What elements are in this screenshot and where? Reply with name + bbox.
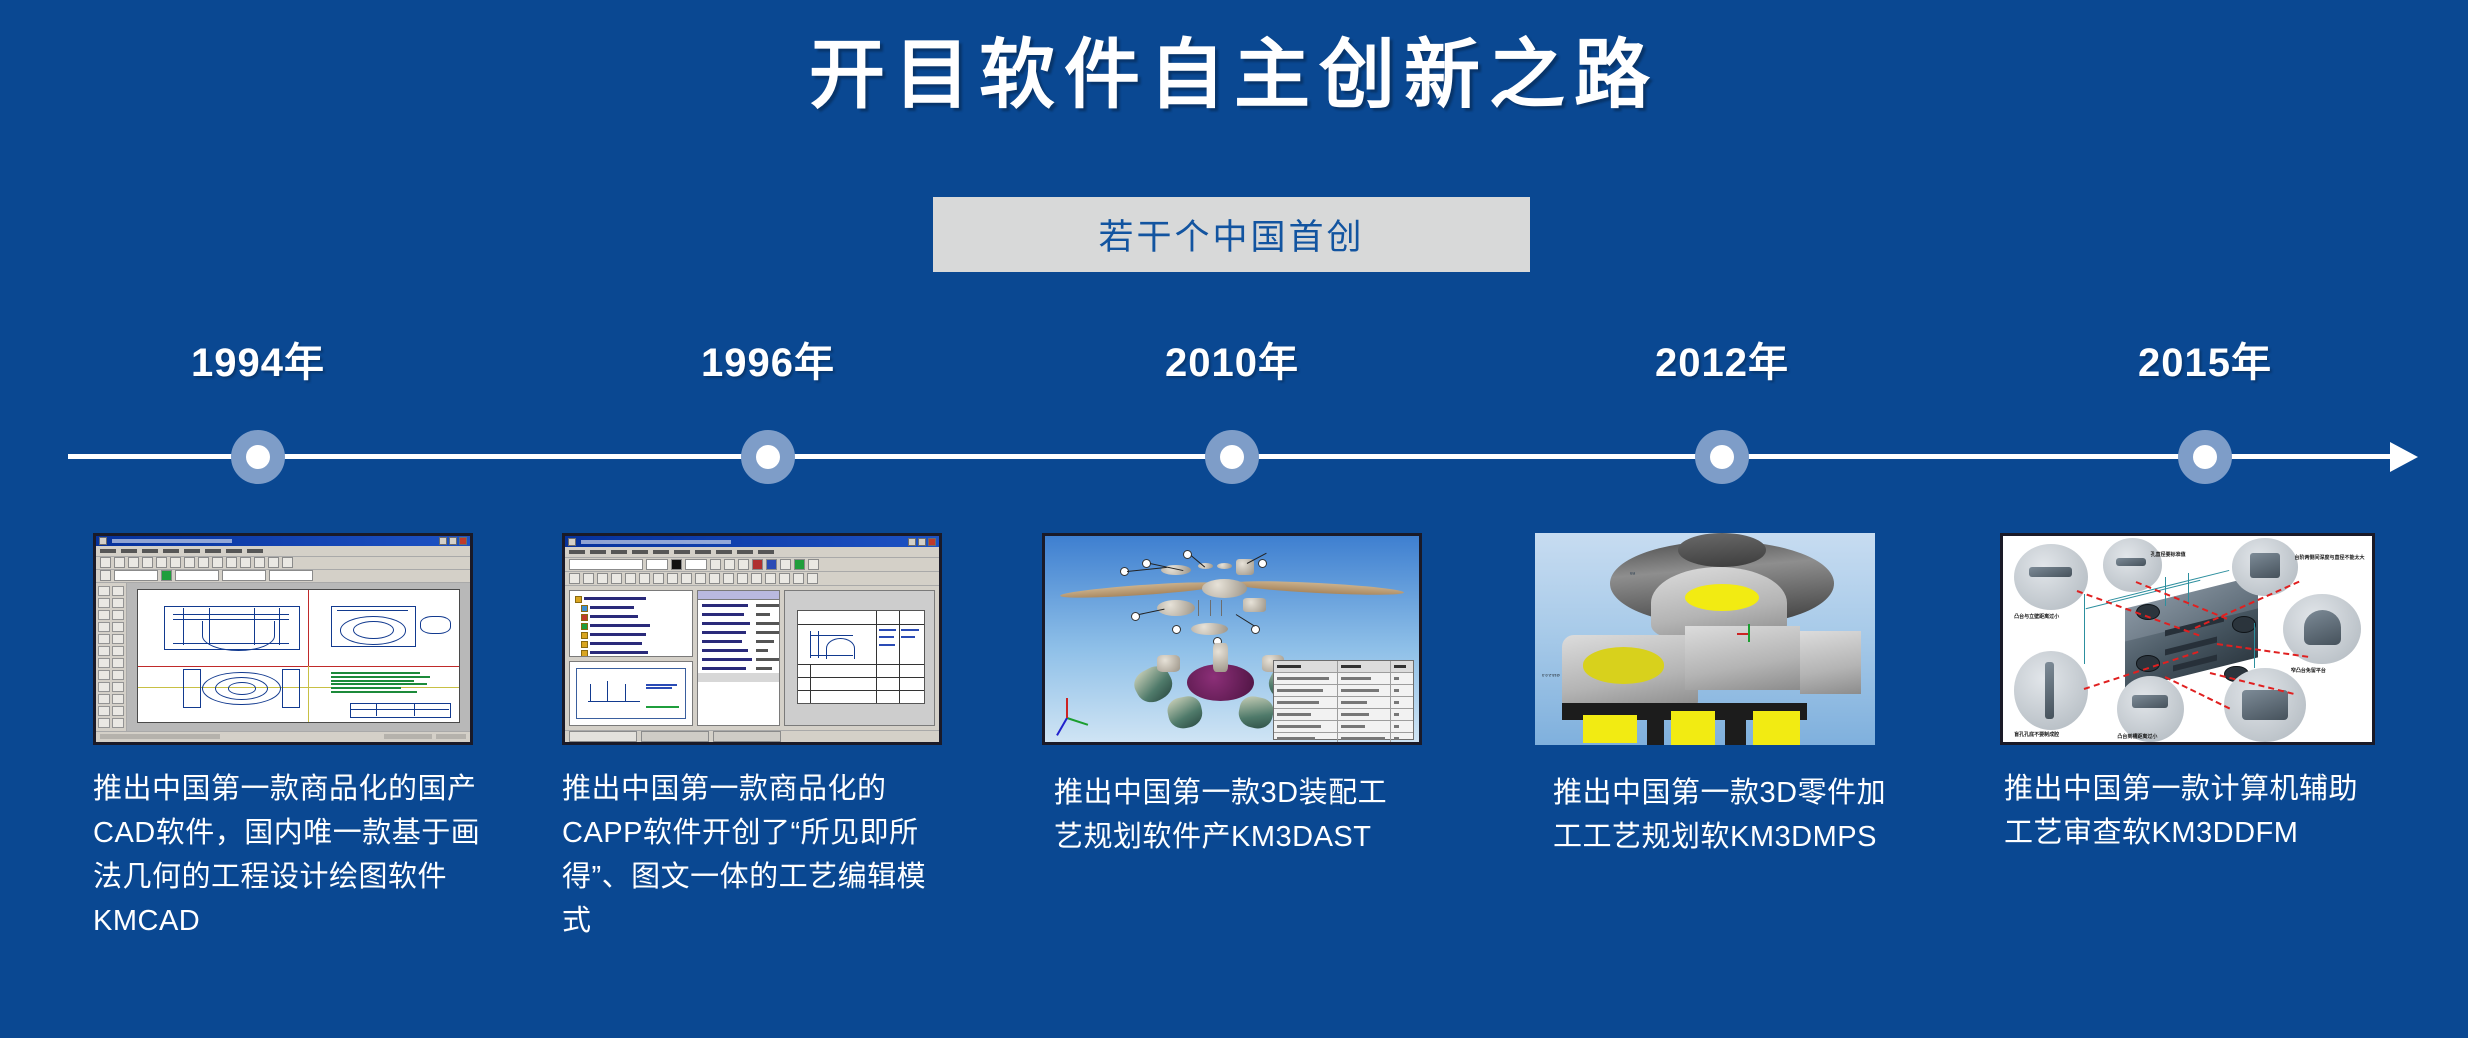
format-icon[interactable] <box>808 559 819 570</box>
align-icon[interactable] <box>710 559 721 570</box>
callout-bubble-2 <box>2103 538 2162 592</box>
undo-icon[interactable] <box>681 573 692 584</box>
axis-z <box>1748 634 1750 642</box>
sheet-row <box>798 624 924 625</box>
attribute-name <box>702 613 744 616</box>
kmcapp-screenshot <box>562 533 942 745</box>
mold-annotation-6: 凸台到槽距离过小 <box>2117 734 2157 740</box>
tool-button[interactable] <box>98 634 110 644</box>
mold-annotation-2: 孔直径要标准值 <box>2151 552 2186 558</box>
align-icon[interactable] <box>724 559 735 570</box>
card-drawing-arc <box>826 638 856 659</box>
tool-button[interactable] <box>112 706 124 716</box>
tree-node-icon <box>581 614 588 621</box>
drawing-stroke <box>173 619 289 620</box>
timeline-year-2012: 2012年 <box>1572 330 1872 388</box>
exploded-washer <box>1217 563 1232 569</box>
dimension-wireframe <box>2084 594 2085 664</box>
menu-item[interactable] <box>163 549 179 553</box>
menu-item[interactable] <box>247 549 263 553</box>
mold-annotation-3: 台阶两侧间深度与直径不能太大 <box>2295 555 2365 563</box>
toolbar-button[interactable] <box>114 557 125 568</box>
line-style-icon[interactable] <box>100 570 111 581</box>
zoom-in-icon[interactable] <box>709 573 720 584</box>
attribute-name <box>702 640 742 643</box>
attribute-name <box>702 658 752 661</box>
timeline-year-1994: 1994年 <box>108 330 408 388</box>
exploded-bushing <box>1243 598 1265 612</box>
part-right-block <box>1800 631 1861 695</box>
left-column <box>569 590 693 726</box>
milestone-card-1996[interactable]: 推出中国第一款商品化的CAPP软件开创了“所见即所得”、图文一体的工艺编辑模式 <box>562 533 942 943</box>
exploded-bolt <box>1210 600 1211 616</box>
milestone-caption-2012: 推出中国第一款3D零件加工工艺规划软KM3DMPS <box>1535 771 1893 859</box>
size-dropdown[interactable] <box>646 559 668 570</box>
callout-bubble-1 <box>2014 544 2088 610</box>
tool-button[interactable] <box>112 586 124 596</box>
toolbar-button[interactable] <box>156 557 167 568</box>
guide-line <box>308 666 309 721</box>
attribute-name <box>702 667 746 670</box>
search-icon[interactable] <box>625 573 636 584</box>
callout-leader <box>1235 614 1254 627</box>
toolbar-standard[interactable] <box>565 572 939 586</box>
toolbar-button[interactable] <box>226 557 237 568</box>
tool-button[interactable] <box>112 658 124 668</box>
tool-button[interactable] <box>112 694 124 704</box>
menu-item[interactable] <box>674 550 690 554</box>
tool-button[interactable] <box>112 646 124 656</box>
toolbar-button[interactable] <box>142 557 153 568</box>
note-line <box>331 672 421 674</box>
menu-item[interactable] <box>695 550 711 554</box>
line-type-dropdown[interactable] <box>114 570 158 581</box>
color-swatch-icon[interactable] <box>671 559 682 570</box>
drawing-preview-panel[interactable] <box>569 661 693 726</box>
attribute-name <box>702 631 746 634</box>
machined-part-3d-scene: Ø18.2-0.3 R5 <box>1535 533 1875 745</box>
drawing-circle <box>228 682 256 695</box>
tab-product-structure[interactable] <box>569 731 637 742</box>
drawing-stroke <box>183 608 184 645</box>
card-text <box>901 629 919 631</box>
callout-bubble-5 <box>2014 651 2088 729</box>
tool-button[interactable] <box>112 634 124 644</box>
km3dmps-machined-part-render: Ø18.2-0.3 R5 <box>1535 533 1875 745</box>
sheet-row <box>798 690 924 691</box>
format-icon[interactable] <box>794 559 805 570</box>
note-line <box>331 680 414 682</box>
tree-node-icon <box>581 632 588 639</box>
format-icon[interactable] <box>752 559 763 570</box>
width-dropdown[interactable] <box>269 570 313 581</box>
axis-x <box>1057 718 1069 736</box>
redo-icon[interactable] <box>695 573 706 584</box>
dimension-wireframe <box>2254 623 2255 668</box>
axis-z <box>1066 698 1068 718</box>
tool-button[interactable] <box>112 598 124 608</box>
menu-item[interactable] <box>184 549 200 553</box>
preview-stroke <box>590 684 591 701</box>
sheet-col <box>876 611 877 703</box>
new-icon[interactable] <box>569 573 580 584</box>
window-titlebar <box>565 536 939 547</box>
preview-stroke <box>625 684 626 701</box>
parts-col-material <box>1338 661 1391 672</box>
toolbar-button[interactable] <box>282 557 293 568</box>
sheet-col <box>899 611 900 703</box>
print-icon[interactable] <box>611 573 622 584</box>
minimize-icon[interactable] <box>439 537 447 545</box>
drawing-sheet <box>137 589 460 723</box>
process-card-panel[interactable] <box>784 590 935 726</box>
menu-item[interactable] <box>716 550 732 554</box>
menu-item[interactable] <box>205 549 221 553</box>
toolbar-button[interactable] <box>254 557 265 568</box>
paste-icon[interactable] <box>667 573 678 584</box>
toolbar-button[interactable] <box>184 557 195 568</box>
product-structure-tree[interactable] <box>569 590 693 657</box>
sheet-row <box>798 677 924 678</box>
cut-icon[interactable] <box>639 573 650 584</box>
menu-item[interactable] <box>569 550 585 554</box>
tool-button[interactable] <box>98 670 110 680</box>
menu-bar[interactable] <box>96 546 470 556</box>
next-page-icon[interactable] <box>793 573 804 584</box>
toolbar-properties[interactable] <box>96 570 470 583</box>
toolbar-style[interactable] <box>565 558 939 572</box>
toolbar-button[interactable] <box>100 557 111 568</box>
timeline-node-1994[interactable] <box>231 430 285 484</box>
attribute-value <box>756 622 780 625</box>
timeline-year-2010: 2010年 <box>1082 330 1382 388</box>
attribute-list-panel[interactable] <box>697 590 780 726</box>
preview-stroke <box>588 701 640 702</box>
preview-note <box>646 687 672 689</box>
milestone-caption-2010: 推出中国第一款3D装配工艺规划软件产KM3DAST <box>1042 771 1404 859</box>
timeline-node-2012[interactable] <box>1695 430 1749 484</box>
note-line <box>331 687 402 689</box>
parts-col-name <box>1274 661 1338 672</box>
text-icon[interactable] <box>751 573 762 584</box>
milestone-caption-1994: 推出中国第一款商品化的国产CAD软件，国内唯一款基于画法几何的工程设计绘图软件K… <box>93 767 483 943</box>
window-title-text <box>581 540 731 544</box>
cad-app-window <box>96 536 470 742</box>
tree-node-label <box>590 624 650 627</box>
table-icon[interactable] <box>737 573 748 584</box>
attribute-name <box>702 622 750 625</box>
menu-item[interactable] <box>611 550 627 554</box>
attribute-value <box>756 604 780 607</box>
card-text <box>879 629 897 631</box>
milestone-caption-2015: 推出中国第一款计算机辅助工艺审查软KM3DDFM <box>2000 767 2379 855</box>
tree-node-label <box>584 597 646 600</box>
tree-node-label <box>590 633 646 636</box>
timeline-node-2015[interactable] <box>2178 430 2232 484</box>
callout-balloon-8 <box>1258 559 1267 568</box>
drawing-view <box>282 669 300 708</box>
parts-table-row <box>1274 673 1412 685</box>
attribute-list-header <box>698 591 779 600</box>
timeline-node-dot <box>2193 445 2217 469</box>
tree-node-label <box>590 642 642 645</box>
exploded-bolt <box>1198 600 1199 616</box>
attribute-value <box>756 613 770 616</box>
dimension-annotation: Ø18.2-0.3 <box>1542 673 1560 678</box>
drawing-detail <box>420 616 451 634</box>
menu-item[interactable] <box>758 550 774 554</box>
milestone-card-2015[interactable]: 凸台与立壁距离过小 孔直径要标准值 台阶两侧间深度与直径不能太大 窄凸台免留平台… <box>2000 533 2375 855</box>
timeline-node-dot <box>246 445 270 469</box>
propeller-hub <box>1202 579 1247 598</box>
menu-bar[interactable] <box>565 547 939 558</box>
milestone-card-2010[interactable]: 推出中国第一款3D装配工艺规划软件产KM3DAST <box>1042 533 1422 859</box>
format-icon[interactable] <box>766 559 777 570</box>
zoom-out-icon[interactable] <box>723 573 734 584</box>
drawing-view <box>183 669 201 708</box>
guide-line <box>308 590 309 667</box>
style-dropdown[interactable] <box>569 559 643 570</box>
parts-table-row <box>1274 733 1412 745</box>
sheet-col <box>810 664 811 703</box>
menu-item[interactable] <box>653 550 669 554</box>
kmcad-screenshot <box>93 533 473 745</box>
tool-button[interactable] <box>112 718 124 728</box>
milestone-caption-1996: 推出中国第一款商品化的CAPP软件开创了“所见即所得”、图文一体的工艺编辑模式 <box>562 767 932 943</box>
tool-button[interactable] <box>98 646 110 656</box>
timeline-node-2010[interactable] <box>1205 430 1259 484</box>
drawing-stroke <box>337 610 408 611</box>
timeline-node-dot <box>1710 445 1734 469</box>
exploded-bolt <box>1221 600 1222 616</box>
machining-surface-face <box>1671 711 1715 745</box>
tree-node-icon <box>581 641 588 648</box>
tree-node-icon <box>581 650 588 657</box>
tree-node-label <box>590 606 634 609</box>
attribute-value <box>756 667 772 670</box>
zoom-readout <box>436 734 466 739</box>
parts-table-row <box>1274 709 1412 721</box>
propeller-blade-right <box>1232 579 1404 598</box>
toolbar-button[interactable] <box>170 557 181 568</box>
mold-guide-hole <box>2232 616 2256 632</box>
drawing-circle <box>353 621 394 639</box>
tab-bar[interactable] <box>565 730 939 742</box>
tool-button[interactable] <box>98 682 110 692</box>
prev-page-icon[interactable] <box>779 573 790 584</box>
close-icon[interactable] <box>459 537 467 545</box>
toolbar-button[interactable] <box>212 557 223 568</box>
drawing-stroke <box>279 608 280 645</box>
tab-process-steps[interactable] <box>641 731 709 742</box>
tool-button[interactable] <box>98 622 110 632</box>
color-dropdown[interactable] <box>685 559 707 570</box>
timeline: 1994年 1996年 2010年 2012年 2015年 <box>0 330 2468 510</box>
window-body <box>96 583 470 731</box>
mold-annotation-5: 盲孔孔底不要制成腔 <box>2014 732 2059 738</box>
menu-item[interactable] <box>121 549 137 553</box>
toolbar-button[interactable] <box>268 557 279 568</box>
attribute-value <box>756 631 780 634</box>
menu-item[interactable] <box>142 549 158 553</box>
timeline-node-1996[interactable] <box>741 430 795 484</box>
dimension-wireframe <box>2165 577 2166 606</box>
engine-cylinder <box>1166 694 1205 731</box>
tab-process-files[interactable] <box>713 731 781 742</box>
window-body <box>565 586 939 730</box>
toolbar-button[interactable] <box>240 557 251 568</box>
mold-annotation-1: 凸台与立壁距离过小 <box>2014 614 2059 620</box>
tool-button[interactable] <box>112 682 124 692</box>
toolbar-button[interactable] <box>128 557 139 568</box>
mold-review-canvas: 凸台与立壁距离过小 孔直径要标准值 台阶两侧间深度与直径不能太大 窄凸台免留平台… <box>2003 536 2372 742</box>
toolbar-primary[interactable] <box>96 557 470 570</box>
open-icon[interactable] <box>583 573 594 584</box>
callout-balloon-5 <box>1172 625 1181 634</box>
tree-node-icon <box>575 596 582 603</box>
first-page-icon[interactable] <box>765 573 776 584</box>
parts-table-row <box>1274 721 1412 733</box>
milestone-card-2012[interactable]: Ø18.2-0.3 R5 推出中国第一款3D零件加工工艺规划软KM3DMPS <box>1535 533 1875 859</box>
machining-surface-face <box>1753 711 1801 745</box>
callout-bubble-6 <box>2117 676 2183 742</box>
title-block-row <box>350 709 450 710</box>
part-gap <box>1725 711 1745 745</box>
part-boss <box>1678 533 1766 567</box>
note-line <box>331 676 431 678</box>
machining-surface-pocket <box>1583 647 1665 683</box>
parts-table-row <box>1274 685 1412 697</box>
card-text <box>879 644 895 646</box>
km3dast-assembly-render <box>1042 533 1422 745</box>
status-text <box>100 734 220 739</box>
timeline-node-dot <box>1220 445 1244 469</box>
color-dropdown[interactable] <box>175 570 219 581</box>
km3ddfm-mold-review-render: 凸台与立壁距离过小 孔直径要标准值 台阶两侧间深度与直径不能太大 窄凸台免留平台… <box>2000 533 2375 745</box>
coordinate-readout <box>384 734 432 739</box>
align-icon[interactable] <box>738 559 749 570</box>
propeller-blade-left <box>1060 580 1225 602</box>
tool-palette[interactable] <box>96 583 127 731</box>
drawing-canvas[interactable] <box>127 583 470 731</box>
copy-icon[interactable] <box>653 573 664 584</box>
tree-node-label <box>590 615 638 618</box>
attribute-value <box>756 640 774 643</box>
tool-button[interactable] <box>98 718 110 728</box>
menu-item[interactable] <box>100 549 116 553</box>
preview-note <box>646 684 676 686</box>
assembly-3d-scene <box>1045 536 1419 742</box>
note-line <box>331 691 418 693</box>
preview-note <box>646 706 679 708</box>
menu-item[interactable] <box>737 550 753 554</box>
engine-mount <box>1157 655 1179 671</box>
parts-table-header-row <box>1274 661 1412 673</box>
tree-node-label <box>590 651 648 654</box>
maximize-icon[interactable] <box>449 537 457 545</box>
toolbar-button[interactable] <box>198 557 209 568</box>
preview-stroke <box>607 681 608 700</box>
mold-annotation-4: 窄凸台免留平台 <box>2291 668 2326 674</box>
timeline-arrow-icon <box>2390 442 2418 472</box>
part-center-block <box>1685 626 1801 690</box>
tool-button[interactable] <box>98 598 110 608</box>
drawing-stroke <box>173 614 289 615</box>
tree-node-icon <box>581 623 588 630</box>
capp-app-window <box>565 536 939 742</box>
window-title-text <box>112 539 232 543</box>
parts-table <box>1273 660 1413 740</box>
sheet-row <box>798 664 924 665</box>
axis-y <box>1748 624 1750 634</box>
menu-item[interactable] <box>226 549 242 553</box>
tool-button[interactable] <box>112 610 124 620</box>
dimension-annotation: R5 <box>1630 571 1635 576</box>
title-block-col <box>376 703 377 716</box>
menu-item[interactable] <box>632 550 648 554</box>
exploded-flange <box>1191 623 1228 635</box>
tool-button[interactable] <box>98 706 110 716</box>
timeline-year-1996: 1996年 <box>618 330 918 388</box>
part-gap <box>1647 711 1664 745</box>
subtitle-banner: 若干个中国首创 <box>933 197 1530 272</box>
machining-surface-face <box>1583 715 1637 743</box>
attribute-row-selected[interactable] <box>698 673 779 682</box>
card-text <box>879 636 894 638</box>
layer-dropdown[interactable] <box>222 570 266 581</box>
milestone-card-1994[interactable]: 推出中国第一款商品化的国产CAD软件，国内唯一款基于画法几何的工程设计绘图软件K… <box>93 533 473 943</box>
attribute-name <box>702 604 748 607</box>
window-titlebar <box>96 536 470 546</box>
tree-node-icon <box>581 605 588 612</box>
card-text <box>901 636 915 638</box>
maximize-icon[interactable] <box>918 538 926 546</box>
save-icon[interactable] <box>597 573 608 584</box>
close-icon[interactable] <box>928 538 936 546</box>
menu-item[interactable] <box>590 550 606 554</box>
minimize-icon[interactable] <box>908 538 916 546</box>
window-icon <box>568 538 576 546</box>
callout-balloon-1 <box>1251 625 1260 634</box>
parts-table-row <box>1274 697 1412 709</box>
parts-col-qty <box>1391 661 1413 672</box>
subtitle-text: 若干个中国首创 <box>1098 209 1364 260</box>
last-page-icon[interactable] <box>807 573 818 584</box>
attribute-value <box>756 649 768 652</box>
tool-button[interactable] <box>98 610 110 620</box>
timeline-node-dot <box>756 445 780 469</box>
attribute-value <box>756 658 780 661</box>
tool-button[interactable] <box>98 694 110 704</box>
engine-cylinder <box>1237 694 1276 731</box>
tool-button[interactable] <box>98 586 110 596</box>
guide-line <box>138 666 459 667</box>
window-icon <box>99 537 107 545</box>
attribute-name <box>702 649 748 652</box>
color-swatch-icon[interactable] <box>161 570 172 581</box>
tool-button[interactable] <box>112 622 124 632</box>
engine-shaft <box>1213 643 1228 672</box>
tool-button[interactable] <box>112 670 124 680</box>
status-bar <box>96 731 470 742</box>
timeline-year-2015: 2015年 <box>2055 330 2355 388</box>
preview-frame <box>576 668 686 719</box>
title-block-col <box>414 703 415 716</box>
format-icon[interactable] <box>780 559 791 570</box>
process-card-sheet <box>797 610 925 704</box>
tool-button[interactable] <box>98 658 110 668</box>
axis-y <box>1067 717 1089 726</box>
